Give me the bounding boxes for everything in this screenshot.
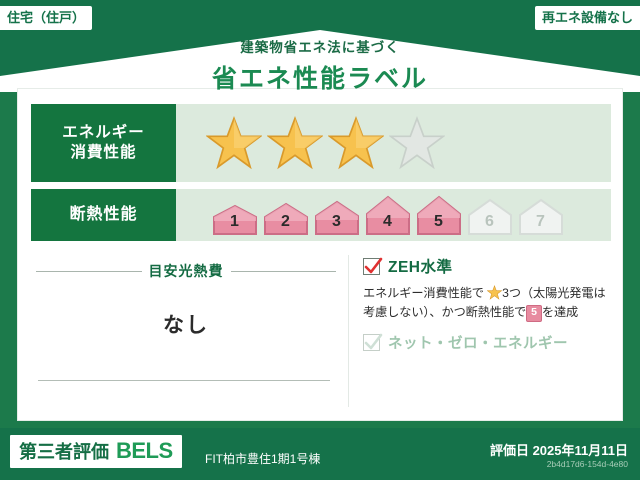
label-title-block: 建築物省エネ法に基づく 省エネ性能ラベル: [0, 36, 640, 95]
building-name: FIT柏市豊住1期1号棟: [205, 450, 320, 467]
third-party-eval-label: 第三者評価: [19, 438, 109, 464]
bels-logo: BELS: [116, 438, 173, 464]
energy-label-line2: 消費性能: [70, 143, 136, 163]
zeh-desc-part1: エネルギー消費性能で: [363, 286, 484, 300]
energy-label-line1: エネルギー: [62, 123, 145, 143]
check-icon: [363, 256, 383, 276]
insulation-level-6: 6: [465, 198, 514, 236]
divider-right: [231, 271, 337, 272]
utility-cost-heading-text: 目安光熱費: [149, 261, 224, 281]
star-icon-filled-1: [206, 115, 262, 171]
insulation-level-6-number: 6: [465, 213, 514, 231]
star-icon-empty-4: [389, 115, 445, 171]
insulation-level-1-number: 1: [210, 213, 259, 231]
zeh-desc-part2: 3つ（太陽光発電: [502, 286, 593, 300]
label-card: エネルギー 消費性能: [17, 88, 623, 421]
insulation-level-5: 5: [414, 195, 463, 236]
zeh-section: ZEH水準 エネルギー消費性能で 3つ（太陽光発電は考慮しない）、かつ断熱性能で…: [348, 255, 610, 407]
checkbox-net-zero: [363, 334, 380, 351]
bels-certification-plate: 第三者評価 BELS: [10, 435, 182, 468]
zeh-standard-label: ZEH水準: [388, 255, 453, 277]
insulation-level-2: 2: [261, 202, 310, 236]
zeh-standard-row: ZEH水準: [363, 255, 610, 277]
utility-cost-heading: 目安光熱費: [36, 261, 336, 281]
divider-left: [36, 271, 142, 272]
insulation-level-5-number: 5: [414, 213, 463, 231]
bels-label-root: 住宅（住戸） 再エネ設備なし 建築物省エネ法に基づく 省エネ性能ラベル エネルギ…: [0, 0, 640, 480]
evaluation-date: 評価日 2025年11月11日: [490, 440, 628, 459]
utility-cost-section: 目安光熱費 なし: [36, 257, 336, 407]
page-title: 省エネ性能ラベル: [0, 59, 640, 95]
insulation-level-scale: 1 2 3: [188, 195, 565, 236]
star-rating: [188, 115, 445, 171]
insulation-level-3: 3: [312, 200, 361, 236]
energy-performance-value: [176, 104, 611, 182]
zeh-desc-part4: を達成: [542, 305, 578, 319]
evaluation-id: 2b4d17d6-154d-4e80: [547, 459, 628, 469]
energy-performance-label: エネルギー 消費性能: [31, 104, 176, 182]
insulation-level-4: 4: [363, 195, 412, 236]
zeh-desc-level-chip: 5: [526, 305, 542, 322]
star-icon-inline: [487, 285, 502, 300]
utility-cost-value: なし: [36, 309, 336, 339]
building-type-tag: 住宅（住戸）: [0, 6, 92, 30]
checkbox-zeh-standard: [363, 258, 380, 275]
star-icon-filled-2: [267, 115, 323, 171]
net-zero-row: ネット・ゼロ・エネルギー: [363, 332, 610, 353]
footer-band: 第三者評価 BELS FIT柏市豊住1期1号棟 評価日 2025年11月11日 …: [0, 428, 640, 480]
star-icon-filled-3: [328, 115, 384, 171]
insulation-performance-label: 断熱性能: [31, 189, 176, 241]
renewable-equipment-tag: 再エネ設備なし: [535, 6, 640, 30]
insulation-performance-row: 断熱性能 1 2: [31, 189, 611, 241]
insulation-level-4-number: 4: [363, 213, 412, 231]
utility-cost-rule: [38, 380, 330, 381]
insulation-level-7: 7: [516, 198, 565, 236]
energy-performance-row: エネルギー 消費性能: [31, 104, 611, 182]
insulation-performance-value: 1 2 3: [176, 189, 611, 241]
zeh-description: エネルギー消費性能で 3つ（太陽光発電は考慮しない）、かつ断熱性能で5を達成: [363, 284, 610, 322]
check-icon-disabled: [363, 332, 383, 352]
insulation-level-1: 1: [210, 204, 259, 236]
title-subtitle: 建築物省エネ法に基づく: [0, 36, 640, 56]
insulation-level-7-number: 7: [516, 213, 565, 231]
net-zero-label: ネット・ゼロ・エネルギー: [388, 332, 568, 353]
insulation-level-2-number: 2: [261, 213, 310, 231]
insulation-level-3-number: 3: [312, 213, 361, 231]
